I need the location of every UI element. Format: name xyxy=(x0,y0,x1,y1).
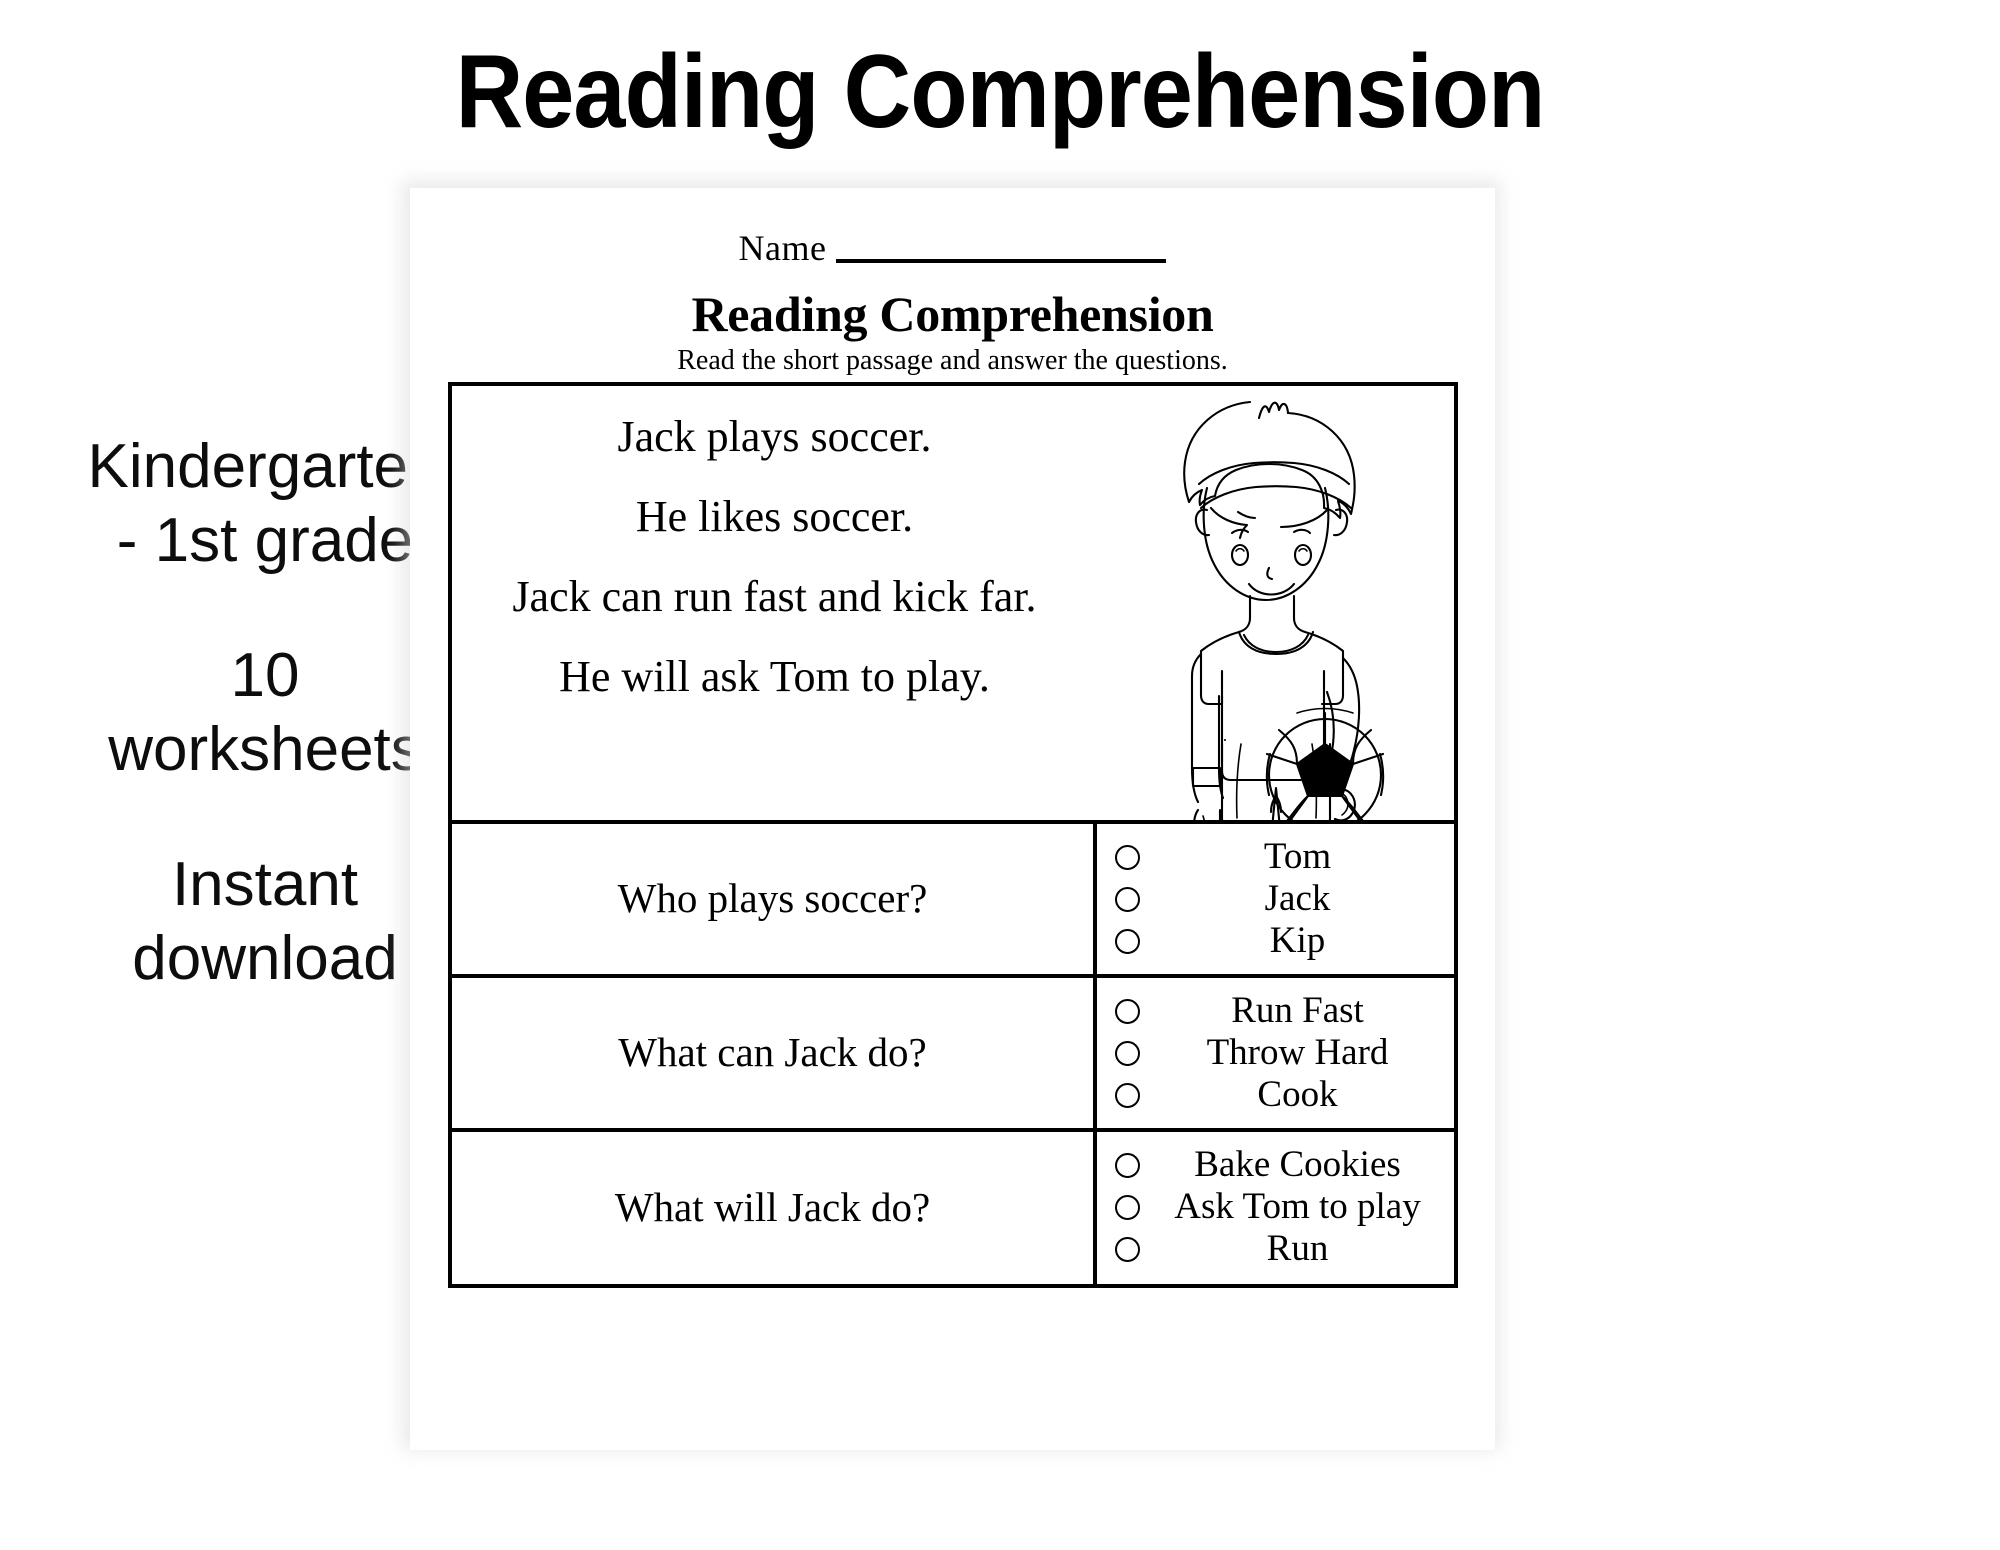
option-label: Kip xyxy=(1151,921,1444,960)
promo-title: Reading Comprehension xyxy=(100,38,1900,147)
promo-canvas: Reading Comprehension Kindergarten - 1st… xyxy=(0,0,2000,1550)
question-prompt: What will Jack do? xyxy=(452,1132,1097,1284)
radio-circle-icon[interactable] xyxy=(1107,887,1151,912)
table-row: What will Jack do? Bake Cookies Ask Tom … xyxy=(452,1132,1454,1284)
list-item[interactable]: Ask Tom to play xyxy=(1107,1186,1444,1228)
boy-soccer-player-icon xyxy=(1131,392,1421,820)
illustration-cell xyxy=(1097,386,1454,820)
radio-circle-icon[interactable] xyxy=(1107,1083,1151,1108)
table-row: What can Jack do? Run Fast Throw Hard Co… xyxy=(452,978,1454,1132)
passage-line-1: Jack plays soccer. xyxy=(474,412,1075,462)
option-label: Run xyxy=(1151,1229,1444,1268)
answer-options: Run Fast Throw Hard Cook xyxy=(1097,978,1454,1128)
option-label: Tom xyxy=(1151,837,1444,876)
option-label: Jack xyxy=(1151,879,1444,918)
table-row: Who plays soccer? Tom Jack Kip xyxy=(452,824,1454,978)
radio-circle-icon[interactable] xyxy=(1107,1153,1151,1178)
name-label: Name xyxy=(739,230,827,266)
radio-circle-icon[interactable] xyxy=(1107,1041,1151,1066)
question-prompt: Who plays soccer? xyxy=(452,824,1097,974)
worksheet-instruction: Read the short passage and answer the qu… xyxy=(410,346,1495,377)
name-write-line[interactable] xyxy=(836,259,1166,263)
list-item[interactable]: Throw Hard xyxy=(1107,1032,1444,1074)
radio-circle-icon[interactable] xyxy=(1107,1195,1151,1220)
list-item[interactable]: Cook xyxy=(1107,1074,1444,1116)
list-item[interactable]: Kip xyxy=(1107,920,1444,962)
list-item[interactable]: Tom xyxy=(1107,836,1444,878)
worksheet-title: Reading Comprehension xyxy=(410,286,1495,342)
passage-line-4: He will ask Tom to play. xyxy=(474,652,1075,702)
option-label: Run Fast xyxy=(1151,991,1444,1030)
soccer-ball-icon xyxy=(1266,709,1382,821)
question-prompt: What can Jack do? xyxy=(452,978,1097,1128)
list-item[interactable]: Run Fast xyxy=(1107,990,1444,1032)
list-item[interactable]: Run xyxy=(1107,1228,1444,1270)
radio-circle-icon[interactable] xyxy=(1107,999,1151,1024)
passage-cell: Jack plays soccer. He likes soccer. Jack… xyxy=(452,386,1097,820)
option-label: Throw Hard xyxy=(1151,1033,1444,1072)
answer-options: Bake Cookies Ask Tom to play Run xyxy=(1097,1132,1454,1284)
worksheet-table: Jack plays soccer. He likes soccer. Jack… xyxy=(448,382,1458,1288)
list-item[interactable]: Jack xyxy=(1107,878,1444,920)
radio-circle-icon[interactable] xyxy=(1107,1237,1151,1262)
option-label: Cook xyxy=(1151,1075,1444,1114)
passage-line-3: Jack can run fast and kick far. xyxy=(474,572,1075,622)
option-label: Ask Tom to play xyxy=(1151,1187,1444,1226)
passage-line-2: He likes soccer. xyxy=(474,492,1075,542)
radio-circle-icon[interactable] xyxy=(1107,845,1151,870)
option-label: Bake Cookies xyxy=(1151,1145,1444,1184)
list-item[interactable]: Bake Cookies xyxy=(1107,1144,1444,1186)
worksheet-page: Name Reading Comprehension Read the shor… xyxy=(410,188,1495,1450)
radio-circle-icon[interactable] xyxy=(1107,929,1151,954)
passage-row: Jack plays soccer. He likes soccer. Jack… xyxy=(452,386,1454,824)
name-field-row: Name xyxy=(410,230,1495,266)
answer-options: Tom Jack Kip xyxy=(1097,824,1454,974)
